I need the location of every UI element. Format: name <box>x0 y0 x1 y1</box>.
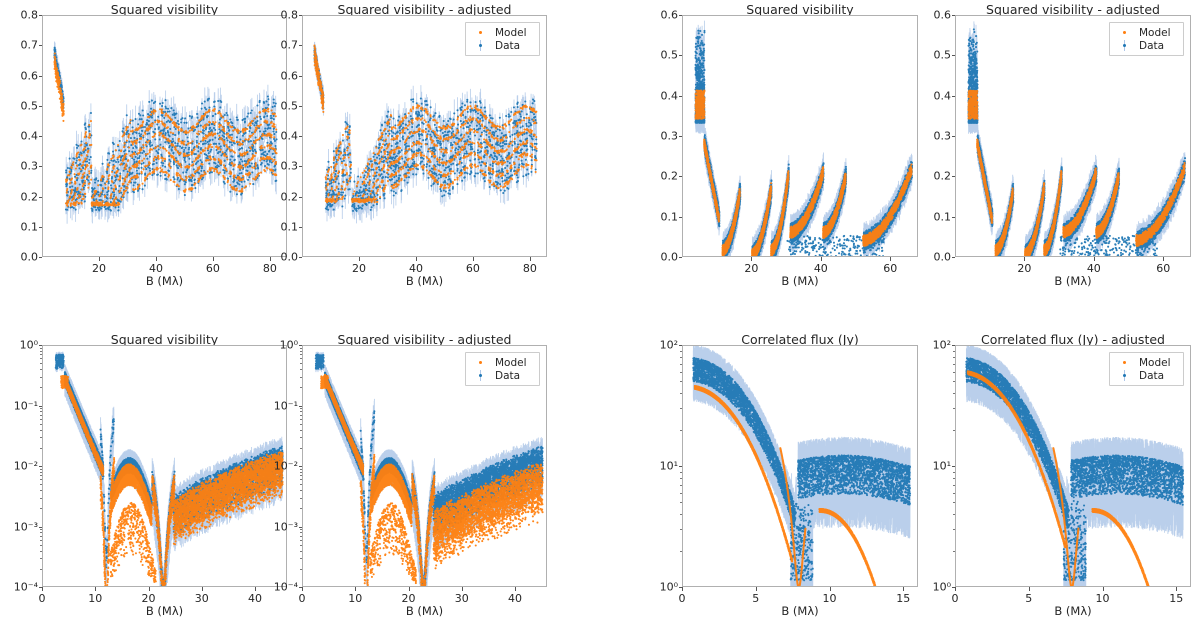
orange-dot-icon <box>1123 31 1126 34</box>
data-marker-icon <box>470 40 490 51</box>
panel-5-xtick-0: 0 <box>39 592 46 605</box>
panel-1-xtickmark-2 <box>213 257 214 261</box>
model-marker-icon <box>470 31 490 34</box>
panel-7-xtick-0: 0 <box>679 592 686 605</box>
panel-6-ytickmark-4 <box>299 587 303 588</box>
data-marker-icon <box>470 370 490 381</box>
panel-7-ytick-0: 10² <box>648 339 678 352</box>
panel-3-xtick-1: 40 <box>814 262 828 275</box>
panel-5-xtick-3: 30 <box>195 592 209 605</box>
legend-label-data: Data <box>1134 370 1177 382</box>
panel-6-xtickmark-1 <box>355 587 356 591</box>
panel-1-xtick-0: 20 <box>92 262 106 275</box>
legend-label-model: Model <box>1134 27 1177 39</box>
panel-4-xtickmark-0 <box>1024 257 1025 261</box>
panel-3-xtickmark-0 <box>751 257 752 261</box>
panel-5-ytick-3: 10⁻³ <box>8 520 38 533</box>
panel-4-ytick-6: 0.6 <box>921 9 951 22</box>
panel-5-xtickmark-4 <box>255 587 256 591</box>
panel-4-ytick-2: 0.2 <box>921 170 951 183</box>
legend-row-data: Data <box>470 39 533 52</box>
panel-2-xtickmark-0 <box>359 257 360 261</box>
panel-4-xtickmark-2 <box>1163 257 1164 261</box>
panel-7-xtickmark-1 <box>756 587 757 591</box>
panel-8-plot-area: ModelData <box>955 345 1191 587</box>
panel-5-xtickmark-1 <box>95 587 96 591</box>
orange-dot-icon <box>479 361 482 364</box>
model-marker-icon <box>1114 361 1134 364</box>
panel-6-plot-area: ModelData <box>302 345 547 587</box>
panel-7-ytick-1: 10¹ <box>648 460 678 473</box>
panel-1-ytick-0: 0.0 <box>8 251 38 264</box>
blue-errorbar-icon <box>1123 370 1126 381</box>
panel-4-ytick-0: 0.0 <box>921 251 951 264</box>
panel-3-xtick-0: 20 <box>744 262 758 275</box>
panel-7-xtick-1: 5 <box>752 592 759 605</box>
panel-4-xtick-2: 60 <box>1156 262 1170 275</box>
panel-2-legend: ModelData <box>465 22 540 56</box>
legend-label-data: Data <box>490 370 533 382</box>
panel-1-series <box>43 16 287 257</box>
panel-7-xtick-3: 15 <box>896 592 910 605</box>
panel-6-xtickmark-4 <box>515 587 516 591</box>
blue-errorbar-icon <box>479 370 482 381</box>
panel-4-xtick-0: 20 <box>1017 262 1031 275</box>
panel-1-xtick-2: 60 <box>206 262 220 275</box>
panel-7-xtickmark-3 <box>903 587 904 591</box>
panel-6-xtickmark-3 <box>462 587 463 591</box>
model-marker-icon <box>1114 31 1134 34</box>
panel-6-xtick-2: 20 <box>402 592 416 605</box>
panel-8-xtickmark-0 <box>955 587 956 591</box>
panel-5-xtickmark-2 <box>149 587 150 591</box>
panel-1-xtick-3: 80 <box>263 262 277 275</box>
panel-5-ytick-0: 10⁰ <box>8 339 38 352</box>
panel-3-ytick-0: 0.0 <box>648 251 678 264</box>
panel-2-xtickmark-3 <box>530 257 531 261</box>
panel-2-xtick-3: 80 <box>523 262 537 275</box>
panel-3-xlabel: B (Mλ) <box>682 274 918 288</box>
panel-4-ytick-4: 0.4 <box>921 89 951 102</box>
panel-3-xtick-2: 60 <box>883 262 897 275</box>
panel-1-ytick-2: 0.2 <box>8 190 38 203</box>
panel-3-ytickmark-0 <box>679 257 683 258</box>
panel-2-xtick-1: 40 <box>409 262 423 275</box>
panel-1-xlabel: B (Mλ) <box>42 274 287 288</box>
legend-label-model: Model <box>490 27 533 39</box>
panel-7-plot-area <box>682 345 918 587</box>
panel-7-ytickmark-2 <box>679 587 683 588</box>
panel-3-ytick-3: 0.3 <box>648 130 678 143</box>
blue-errorbar-icon <box>1123 40 1126 51</box>
panel-1-xtick-1: 40 <box>149 262 163 275</box>
panel-4-xtickmark-1 <box>1094 257 1095 261</box>
panel-1-xtickmark-0 <box>99 257 100 261</box>
legend-label-model: Model <box>490 357 533 369</box>
panel-3-ytick-5: 0.5 <box>648 49 678 62</box>
panel-1-xtickmark-1 <box>156 257 157 261</box>
panel-2-xtick-0: 20 <box>352 262 366 275</box>
panel-3-plot-area <box>682 15 918 257</box>
panel-1-ytick-4: 0.4 <box>8 130 38 143</box>
panel-6-xlabel: B (Mλ) <box>302 604 547 618</box>
panel-6-legend: ModelData <box>465 352 540 386</box>
legend-label-data: Data <box>1134 40 1177 52</box>
panel-1-ytick-3: 0.3 <box>8 160 38 173</box>
panel-8-xtick-1: 5 <box>1025 592 1032 605</box>
panel-2-xtick-2: 60 <box>466 262 480 275</box>
panel-3-xtickmark-1 <box>821 257 822 261</box>
legend-label-data: Data <box>490 40 533 52</box>
panel-8-ytick-2: 10⁰ <box>921 581 951 594</box>
panel-2-ytickmark-0 <box>299 257 303 258</box>
panel-1-ytick-7: 0.7 <box>8 39 38 52</box>
legend-row-model: Model <box>1114 356 1177 369</box>
panel-1-ytick-5: 0.5 <box>8 99 38 112</box>
panel-3-ytick-2: 0.2 <box>648 170 678 183</box>
panel-3-ytick-4: 0.4 <box>648 89 678 102</box>
panel-5-plot-area <box>42 345 287 587</box>
panel-2-xtickmark-2 <box>473 257 474 261</box>
panel-8-xtick-0: 0 <box>952 592 959 605</box>
panel-1-xtickmark-3 <box>270 257 271 261</box>
panel-4-xlabel: B (Mλ) <box>955 274 1191 288</box>
panel-6-xtick-3: 30 <box>455 592 469 605</box>
panel-5-ytickmark-4 <box>39 587 43 588</box>
panel-3-xtickmark-2 <box>890 257 891 261</box>
panel-8-xtickmark-3 <box>1176 587 1177 591</box>
data-marker-icon <box>1114 370 1134 381</box>
panel-7-xtickmark-2 <box>830 587 831 591</box>
panel-5-ytick-1: 10⁻¹ <box>8 399 38 412</box>
panel-4-ytick-1: 0.1 <box>921 210 951 223</box>
panel-5-ytick-2: 10⁻² <box>8 460 38 473</box>
panel-6-xtickmark-2 <box>409 587 410 591</box>
panel-2-xlabel: B (Mλ) <box>302 274 547 288</box>
orange-dot-icon <box>479 31 482 34</box>
legend-row-data: Data <box>470 369 533 382</box>
panel-6-xtick-4: 40 <box>508 592 522 605</box>
panel-6-xtick-1: 10 <box>348 592 362 605</box>
panel-5-series <box>43 346 287 587</box>
blue-errorbar-icon <box>479 40 482 51</box>
panel-4-ytick-3: 0.3 <box>921 130 951 143</box>
panel-5-xtick-2: 20 <box>142 592 156 605</box>
panel-5-xlabel: B (Mλ) <box>42 604 287 618</box>
panel-3-ytick-1: 0.1 <box>648 210 678 223</box>
panel-5-xtickmark-3 <box>202 587 203 591</box>
panel-1-ytick-6: 0.6 <box>8 69 38 82</box>
panel-1-plot-area <box>42 15 287 257</box>
panel-8-xtickmark-2 <box>1103 587 1104 591</box>
panel-5-xtick-4: 40 <box>248 592 262 605</box>
panel-1-ytick-1: 0.1 <box>8 220 38 233</box>
panel-6-xtickmark-0 <box>302 587 303 591</box>
panel-4-plot-area: ModelData <box>955 15 1191 257</box>
panel-4-xtick-1: 40 <box>1087 262 1101 275</box>
panel-1-ytickmark-0 <box>39 257 43 258</box>
panel-5-xtick-1: 10 <box>88 592 102 605</box>
panel-2-xtickmark-1 <box>416 257 417 261</box>
legend-row-model: Model <box>1114 26 1177 39</box>
panel-5-xtickmark-0 <box>42 587 43 591</box>
panel-7-xlabel: B (Mλ) <box>682 604 918 618</box>
panel-7-xtickmark-0 <box>682 587 683 591</box>
legend-row-data: Data <box>1114 369 1177 382</box>
panel-8-ytickmark-2 <box>952 587 956 588</box>
model-marker-icon <box>470 361 490 364</box>
panel-7-ytick-2: 10⁰ <box>648 581 678 594</box>
panel-3-series <box>683 16 918 257</box>
panel-5-ytick-4: 10⁻⁴ <box>8 581 38 594</box>
panel-8-xtick-2: 10 <box>1096 592 1110 605</box>
panel-1-ytick-8: 0.8 <box>8 9 38 22</box>
legend-row-model: Model <box>470 26 533 39</box>
panel-4-legend: ModelData <box>1109 22 1184 56</box>
legend-row-data: Data <box>1114 39 1177 52</box>
panel-3-ytick-6: 0.6 <box>648 9 678 22</box>
panel-8-xlabel: B (Mλ) <box>955 604 1191 618</box>
panel-6-xtick-0: 0 <box>299 592 306 605</box>
panel-8-xtickmark-1 <box>1029 587 1030 591</box>
panel-8-ytick-0: 10² <box>921 339 951 352</box>
panel-7-xtick-2: 10 <box>823 592 837 605</box>
multi-panel-figure: Squared visibility0.00.10.20.30.40.50.60… <box>0 0 1200 627</box>
legend-row-model: Model <box>470 356 533 369</box>
panel-8-ytick-1: 10¹ <box>921 460 951 473</box>
legend-label-model: Model <box>1134 357 1177 369</box>
panel-8-legend: ModelData <box>1109 352 1184 386</box>
panel-4-ytick-5: 0.5 <box>921 49 951 62</box>
data-marker-icon <box>1114 40 1134 51</box>
panel-2-plot-area: ModelData <box>302 15 547 257</box>
panel-7-series <box>683 346 918 587</box>
panel-8-xtick-3: 15 <box>1169 592 1183 605</box>
panel-4-ytickmark-0 <box>952 257 956 258</box>
orange-dot-icon <box>1123 361 1126 364</box>
